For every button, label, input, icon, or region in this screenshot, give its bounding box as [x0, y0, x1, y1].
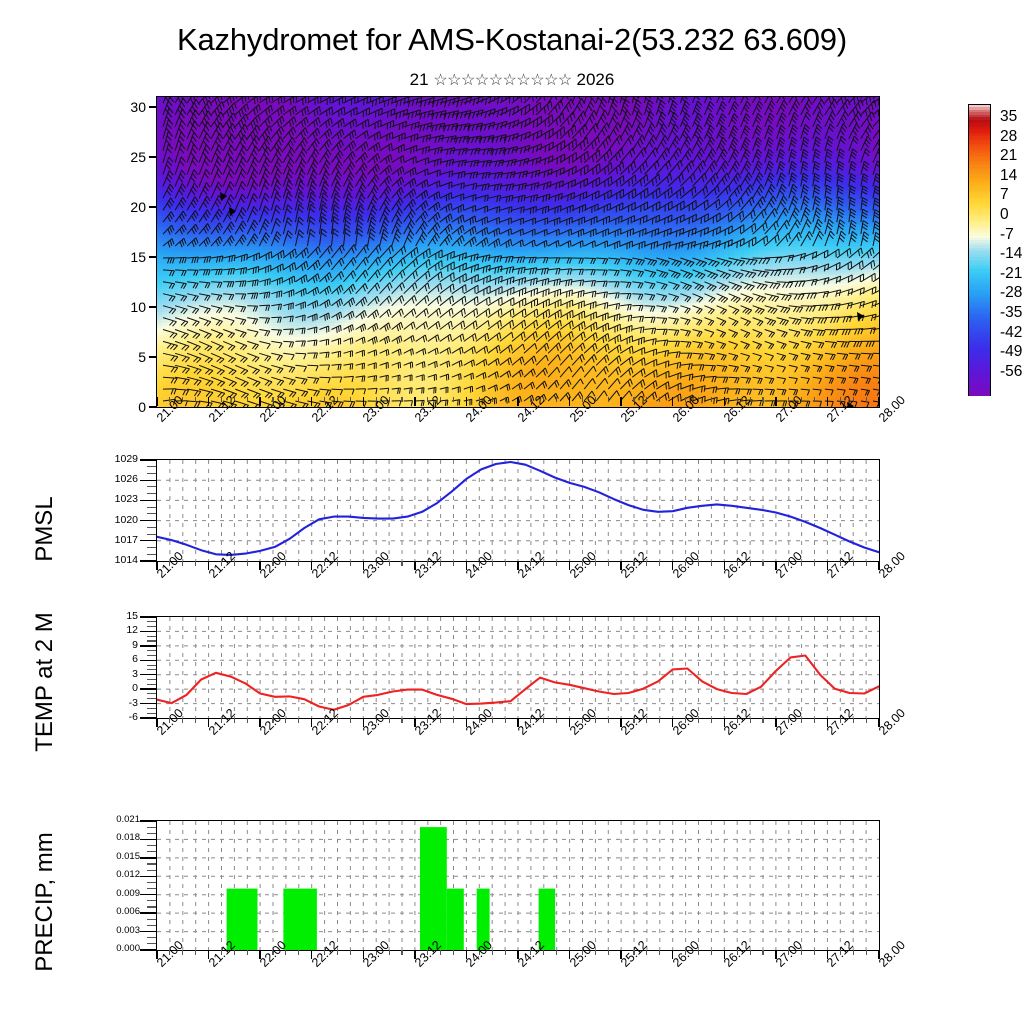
- y-tick-minor: [147, 870, 156, 871]
- y-axis-label: 0.012: [92, 870, 140, 880]
- colorbar-tick-label: -56: [1000, 364, 1022, 380]
- x-tick-minor: [608, 397, 609, 402]
- colorbar-tick-label: 0: [1000, 207, 1009, 223]
- y-axis-label: 6: [86, 654, 138, 665]
- x-tick-minor: [195, 950, 196, 955]
- x-tick-minor: [505, 718, 506, 723]
- y-axis-label: 12: [86, 625, 138, 636]
- y-axis-label: 0.009: [92, 889, 140, 899]
- x-tick-minor: [247, 950, 248, 955]
- x-tick-minor: [401, 718, 402, 723]
- x-tick-major: [259, 397, 260, 406]
- x-tick-minor: [814, 561, 815, 566]
- x-tick-minor: [556, 561, 557, 566]
- y-tick-major: [149, 156, 157, 157]
- y-tick-major: [140, 480, 156, 481]
- x-tick-minor: [453, 950, 454, 955]
- colorbar-tick-label: -35: [1000, 305, 1022, 321]
- y-tick-minor: [147, 679, 156, 680]
- y-tick-minor: [147, 900, 156, 901]
- colorbar-strip[interactable]: [968, 104, 991, 396]
- precip-canvas: [157, 821, 879, 950]
- colorbar-tick-label: -42: [1000, 325, 1022, 341]
- y-tick-major: [149, 406, 157, 407]
- y-tick-minor: [147, 640, 156, 641]
- colorbar-tick-label: -28: [1000, 285, 1022, 301]
- pmsl-axis-label: PMSL: [31, 469, 59, 589]
- y-tick-minor: [147, 669, 156, 670]
- y-tick-major: [140, 839, 156, 840]
- x-tick-major: [827, 397, 828, 406]
- y-tick-major: [140, 931, 156, 932]
- x-tick-major: [569, 397, 570, 406]
- y-tick-minor: [147, 621, 156, 622]
- x-tick-minor: [350, 950, 351, 955]
- x-tick-major: [363, 397, 364, 406]
- y-tick-major: [140, 500, 156, 501]
- cross-section-canvas: [157, 97, 879, 407]
- x-tick-minor: [556, 950, 557, 955]
- y-axis-label: 0.003: [92, 926, 140, 936]
- y-tick-major: [140, 616, 156, 617]
- cross-section-plot[interactable]: [156, 96, 880, 408]
- y-tick-minor: [147, 937, 156, 938]
- x-tick-minor: [711, 397, 712, 402]
- y-axis-label: 0.018: [92, 833, 140, 843]
- colorbar-tick-label: -14: [1000, 246, 1022, 262]
- y-tick-minor: [147, 534, 156, 535]
- x-axis-label: 28.00: [876, 706, 908, 738]
- pmsl-plot[interactable]: [156, 459, 880, 562]
- y-tick-minor: [147, 851, 156, 852]
- x-tick-minor: [866, 397, 867, 402]
- y-tick-minor: [147, 626, 156, 627]
- y-tick-minor: [147, 650, 156, 651]
- y-axis-label: -6: [86, 712, 138, 723]
- y-tick-minor: [147, 845, 156, 846]
- temp-axis-label: TEMP at 2 M: [31, 577, 59, 787]
- x-tick-minor: [711, 950, 712, 955]
- temp-canvas: [157, 617, 879, 718]
- x-tick-minor: [814, 950, 815, 955]
- x-tick-major: [672, 397, 673, 406]
- x-tick-minor: [195, 718, 196, 723]
- y-tick-minor: [147, 473, 156, 474]
- x-tick-minor: [814, 718, 815, 723]
- x-tick-minor: [401, 397, 402, 402]
- y-axis-label: 1029: [86, 454, 138, 465]
- y-tick-major: [140, 857, 156, 858]
- x-tick-minor: [505, 397, 506, 402]
- colorbar-tick-label: -7: [1000, 227, 1014, 243]
- x-tick-minor: [195, 561, 196, 566]
- y-tick-major: [140, 645, 156, 646]
- y-axis-label: 15: [86, 250, 146, 264]
- x-tick-minor: [298, 718, 299, 723]
- page-title: Kazhydromet for AMS-Kostanai-2(53.232 63…: [0, 22, 1024, 58]
- y-tick-minor: [147, 833, 156, 834]
- y-tick-minor: [147, 713, 156, 714]
- x-tick-major: [620, 397, 621, 406]
- y-tick-major: [140, 660, 156, 661]
- y-axis-label: 1023: [86, 494, 138, 505]
- x-tick-minor: [350, 718, 351, 723]
- x-axis-label: 28.00: [876, 938, 908, 970]
- x-tick-minor: [453, 397, 454, 402]
- y-tick-minor: [147, 554, 156, 555]
- x-tick-major: [775, 397, 776, 406]
- y-axis-label: 0.015: [92, 852, 140, 862]
- x-tick-minor: [247, 397, 248, 402]
- y-tick-major: [149, 356, 157, 357]
- y-axis-label: -3: [86, 698, 138, 709]
- y-tick-minor: [147, 486, 156, 487]
- x-tick-minor: [247, 561, 248, 566]
- y-axis-label: 1020: [86, 515, 138, 526]
- y-axis-label: 1014: [86, 555, 138, 566]
- y-tick-minor: [147, 507, 156, 508]
- x-tick-minor: [247, 718, 248, 723]
- x-tick-major: [156, 397, 157, 406]
- y-axis-label: 30: [86, 100, 146, 114]
- colorbar-tick-label: 7: [1000, 187, 1009, 203]
- page-subtitle: 21 ☆☆☆☆☆☆☆☆☆☆ 2026: [0, 70, 1024, 90]
- y-axis-label: 0: [86, 683, 138, 694]
- x-tick-minor: [608, 718, 609, 723]
- x-tick-minor: [659, 718, 660, 723]
- x-tick-minor: [762, 561, 763, 566]
- colorbar-tick-label: 28: [1000, 129, 1017, 145]
- y-tick-minor: [147, 527, 156, 528]
- x-tick-minor: [762, 718, 763, 723]
- colorbar-band: [969, 393, 990, 396]
- y-tick-major: [140, 560, 156, 561]
- x-tick-minor: [659, 397, 660, 402]
- precip-plot[interactable]: [156, 820, 880, 951]
- y-tick-minor: [147, 698, 156, 699]
- y-tick-major: [140, 520, 156, 521]
- x-tick-minor: [453, 561, 454, 566]
- x-tick-minor: [711, 561, 712, 566]
- colorbar-tick-label: -49: [1000, 344, 1022, 360]
- x-tick-minor: [350, 397, 351, 402]
- x-tick-minor: [556, 718, 557, 723]
- y-tick-major: [149, 256, 157, 257]
- x-tick-minor: [505, 561, 506, 566]
- x-tick-minor: [762, 950, 763, 955]
- x-axis-label: 28.00: [876, 393, 908, 425]
- weather-forecast-page: Kazhydromet for AMS-Kostanai-2(53.232 63…: [0, 0, 1024, 1024]
- colorbar-tick-label: -21: [1000, 266, 1022, 282]
- x-tick-minor: [556, 397, 557, 402]
- y-tick-minor: [147, 636, 156, 637]
- y-axis-label: 9: [86, 640, 138, 651]
- x-tick-major: [414, 397, 415, 406]
- subtitle-day: 21: [410, 70, 429, 89]
- y-tick-minor: [147, 493, 156, 494]
- y-tick-minor: [147, 919, 156, 920]
- x-tick-major: [517, 397, 518, 406]
- y-axis-label: 0.000: [92, 944, 140, 954]
- x-tick-minor: [866, 950, 867, 955]
- pmsl-canvas: [157, 460, 879, 561]
- y-tick-minor: [147, 547, 156, 548]
- y-tick-minor: [147, 466, 156, 467]
- subtitle-month-glyphs: ☆☆☆☆☆☆☆☆☆☆: [433, 72, 571, 89]
- x-tick-minor: [659, 561, 660, 566]
- y-axis-label: 20: [86, 200, 146, 214]
- y-tick-major: [140, 949, 156, 950]
- y-tick-minor: [147, 655, 156, 656]
- precip-axis-label: PRECIP, mm: [31, 787, 59, 1017]
- y-axis-label: 15: [86, 611, 138, 622]
- y-tick-minor: [147, 693, 156, 694]
- y-tick-major: [140, 703, 156, 704]
- y-axis-label: 3: [86, 669, 138, 680]
- y-tick-major: [140, 674, 156, 675]
- y-tick-minor: [147, 684, 156, 685]
- x-tick-minor: [298, 561, 299, 566]
- subtitle-year: 2026: [577, 70, 615, 89]
- y-tick-minor: [147, 708, 156, 709]
- x-tick-major: [311, 397, 312, 406]
- y-tick-major: [140, 912, 156, 913]
- y-tick-minor: [147, 906, 156, 907]
- y-tick-minor: [147, 925, 156, 926]
- x-tick-minor: [608, 561, 609, 566]
- x-tick-minor: [711, 718, 712, 723]
- y-tick-major: [140, 540, 156, 541]
- temp-plot[interactable]: [156, 616, 880, 719]
- y-tick-major: [149, 106, 157, 107]
- colorbar-tick-label: 14: [1000, 168, 1017, 184]
- y-tick-major: [140, 894, 156, 895]
- x-tick-minor: [659, 950, 660, 955]
- y-tick-major: [140, 631, 156, 632]
- x-tick-minor: [401, 950, 402, 955]
- colorbar-tick-label: 35: [1000, 109, 1017, 125]
- x-tick-major: [878, 397, 879, 406]
- y-tick-minor: [147, 888, 156, 889]
- x-tick-minor: [401, 561, 402, 566]
- colorbar-gradient: [969, 105, 990, 395]
- y-axis-label: 0.021: [92, 815, 140, 825]
- x-tick-minor: [762, 397, 763, 402]
- y-tick-major: [140, 717, 156, 718]
- y-tick-minor: [147, 863, 156, 864]
- x-tick-minor: [866, 561, 867, 566]
- y-axis-label: 0.006: [92, 907, 140, 917]
- y-tick-major: [140, 820, 156, 821]
- x-tick-minor: [453, 718, 454, 723]
- y-axis-label: 0: [86, 400, 146, 414]
- x-tick-major: [466, 397, 467, 406]
- x-axis-label: 28.00: [876, 549, 908, 581]
- x-tick-minor: [505, 950, 506, 955]
- y-axis-label: 1017: [86, 535, 138, 546]
- y-axis-label: 5: [86, 350, 146, 364]
- y-tick-major: [140, 459, 156, 460]
- y-tick-major: [149, 306, 157, 307]
- x-tick-minor: [866, 718, 867, 723]
- x-tick-minor: [298, 950, 299, 955]
- y-tick-minor: [147, 827, 156, 828]
- x-tick-major: [724, 397, 725, 406]
- y-tick-minor: [147, 513, 156, 514]
- y-tick-major: [140, 876, 156, 877]
- y-axis-label: 1026: [86, 474, 138, 485]
- y-axis-label: 10: [86, 300, 146, 314]
- colorbar-tick-label: 21: [1000, 148, 1017, 164]
- y-tick-major: [140, 688, 156, 689]
- y-tick-minor: [147, 943, 156, 944]
- x-tick-minor: [195, 397, 196, 402]
- y-axis-label: 25: [86, 150, 146, 164]
- y-tick-minor: [147, 882, 156, 883]
- y-tick-minor: [147, 665, 156, 666]
- y-tick-major: [149, 206, 157, 207]
- x-tick-minor: [298, 397, 299, 402]
- x-tick-minor: [350, 561, 351, 566]
- x-tick-major: [208, 397, 209, 406]
- x-tick-minor: [814, 397, 815, 402]
- x-tick-minor: [608, 950, 609, 955]
